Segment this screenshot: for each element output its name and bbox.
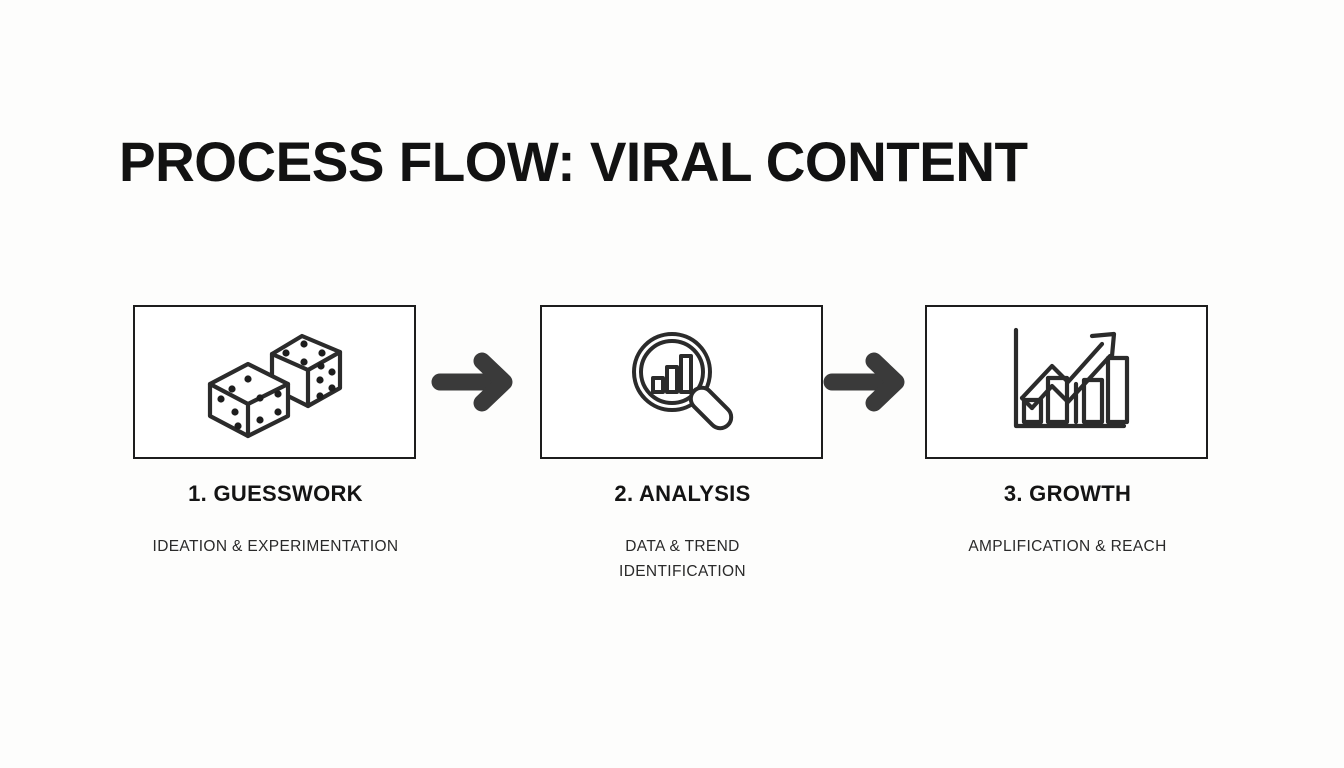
step-icon-panel-3[interactable] — [925, 305, 1208, 459]
step-desc-line: AMPLIFICATION & REACH — [925, 534, 1210, 559]
dice-icon — [190, 322, 360, 442]
arrow-step-1-to-2 — [430, 345, 525, 425]
step-title-1: 1. GUESSWORK — [133, 481, 418, 507]
step-desc-line: DATA & TREND — [540, 534, 825, 559]
magnifying-glass-bar-chart-icon — [622, 322, 742, 442]
process-flow-row: 1. GUESSWORK IDEATION & EXPERIMENTATION — [0, 305, 1344, 595]
step-description-1: IDEATION & EXPERIMENTATION — [133, 534, 418, 559]
arrow-step-2-to-3 — [822, 345, 917, 425]
flow-step-analysis[interactable]: 2. ANALYSIS DATA & TREND IDENTIFICATION — [540, 305, 825, 584]
step-icon-panel-2[interactable] — [540, 305, 823, 459]
step-desc-line: IDENTIFICATION — [540, 559, 825, 584]
step-title-3: 3. GROWTH — [925, 481, 1210, 507]
step-description-3: AMPLIFICATION & REACH — [925, 534, 1210, 559]
step-title-2: 2. ANALYSIS — [540, 481, 825, 507]
slide-canvas: PROCESS FLOW: VIRAL CONTENT — [0, 0, 1344, 768]
growth-chart-arrow-icon — [1002, 322, 1132, 442]
step-icon-panel-1[interactable] — [133, 305, 416, 459]
page-title: PROCESS FLOW: VIRAL CONTENT — [119, 133, 1028, 192]
step-desc-line: IDEATION & EXPERIMENTATION — [133, 534, 418, 559]
flow-step-growth[interactable]: 3. GROWTH AMPLIFICATION & REACH — [925, 305, 1210, 559]
flow-step-guesswork[interactable]: 1. GUESSWORK IDEATION & EXPERIMENTATION — [133, 305, 418, 559]
step-description-2: DATA & TREND IDENTIFICATION — [540, 534, 825, 584]
